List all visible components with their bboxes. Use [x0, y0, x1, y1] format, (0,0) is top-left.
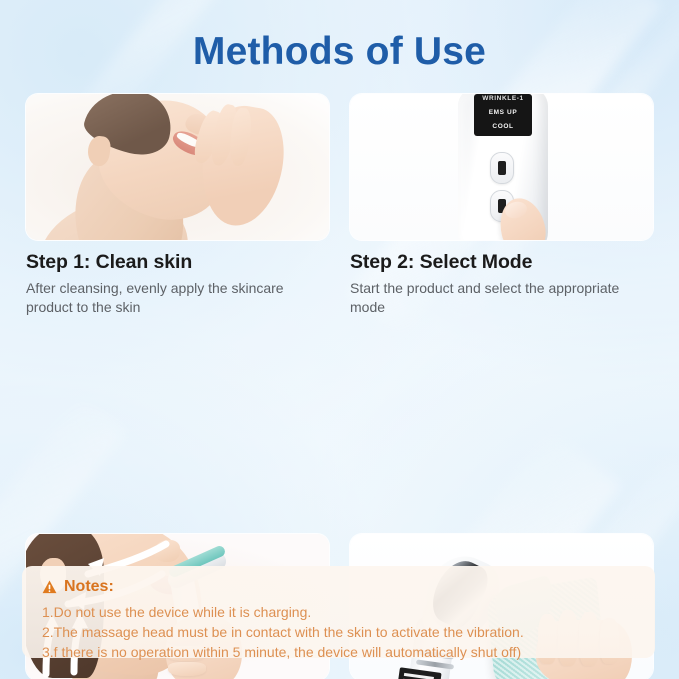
notes-heading-label: Notes:: [64, 578, 114, 596]
step-1-description: After cleansing, evenly apply the skinca…: [26, 279, 296, 316]
notes-heading: Notes:: [42, 578, 114, 596]
note-item: 3.f there is no operation within 5 minut…: [42, 642, 524, 662]
notes-list: 1.Do not use the device while it is char…: [42, 602, 524, 662]
display-line-1: WRINKLE-1: [474, 95, 532, 102]
device-button-upper: [490, 152, 514, 184]
steps-row-1: Step 1: Clean skin After cleansing, even…: [0, 94, 679, 312]
step-2-title: Step 2: Select Mode: [350, 251, 653, 274]
display-line-3: COOL: [474, 123, 532, 130]
warning-triangle-icon: [42, 580, 57, 594]
step-2-description: Start the product and select the appropr…: [350, 279, 620, 316]
step-2-image: WRINKLE-1 EMS UP COOL: [350, 94, 653, 240]
step-card-1: Step 1: Clean skin After cleansing, even…: [26, 94, 329, 316]
note-item: 2.The massage head must be in contact wi…: [42, 622, 524, 642]
display-line-2: EMS UP: [474, 109, 532, 116]
methods-of-use-page: Methods of Use: [0, 0, 679, 679]
step-card-2: WRINKLE-1 EMS UP COOL Step 2: Select Mod…: [350, 94, 653, 316]
page-title: Methods of Use: [0, 30, 679, 74]
button-glyph-icon: [498, 161, 506, 175]
device-display-screen: WRINKLE-1 EMS UP COOL: [474, 94, 532, 136]
notes-panel: Notes: 1.Do not use the device while it …: [22, 566, 655, 658]
step-1-image: [26, 94, 329, 240]
note-item: 1.Do not use the device while it is char…: [42, 602, 524, 622]
step-1-title: Step 1: Clean skin: [26, 251, 329, 274]
